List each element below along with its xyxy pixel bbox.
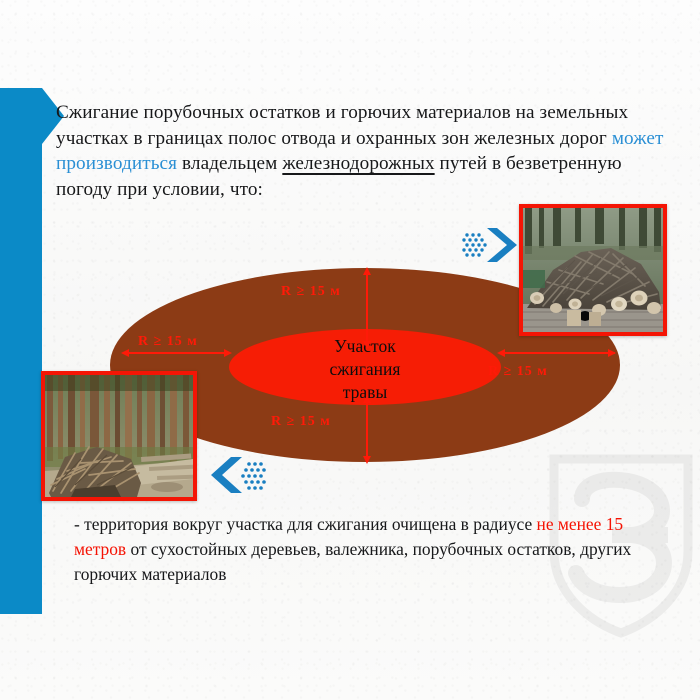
condition-paragraph: - территория вокруг участка для сжигания… — [74, 512, 660, 587]
headline-part2: владельцем — [177, 153, 282, 174]
arrowhead-bottom-down — [363, 456, 371, 464]
measure-line-top — [366, 269, 368, 348]
arrowhead-right-east — [608, 349, 616, 357]
radius-label-right: R ≥ 15 м — [488, 364, 548, 380]
photo-pine-forest-debris — [41, 371, 197, 501]
arrowhead-left-west — [121, 349, 129, 357]
condition-part2: от сухостойных деревьев, валежника, пору… — [74, 539, 631, 584]
chevron-left-icon — [201, 454, 271, 496]
condition-part1: - территория вокруг участка для сжигания… — [74, 514, 537, 534]
measure-line-bottom — [366, 396, 368, 462]
page-title: Сжигание порубочных остатков и горючих м… — [56, 100, 664, 202]
arrowhead-right-west — [497, 349, 505, 357]
arrowhead-left-east — [224, 349, 232, 357]
headline-part1: Сжигание порубочных остатков и горючих м… — [56, 102, 628, 149]
arrowhead-top-up — [363, 267, 371, 275]
slide-canvas: Сжигание порубочных остатков и горючих м… — [0, 0, 700, 700]
measure-line-left — [125, 352, 230, 354]
measure-line-right — [500, 352, 615, 354]
radius-label-bottom: R ≥ 15 м — [271, 414, 331, 430]
arrowhead-bottom-up — [363, 395, 371, 403]
radius-label-left: R ≥ 15 м — [138, 334, 198, 350]
radius-label-top: R ≥ 15 м — [281, 284, 341, 300]
arrowhead-top-down — [363, 341, 371, 349]
photo-logging-debris-pile — [519, 204, 667, 336]
chevron-right-icon — [461, 226, 531, 264]
headline-underlined: железнодорожных — [282, 153, 434, 174]
